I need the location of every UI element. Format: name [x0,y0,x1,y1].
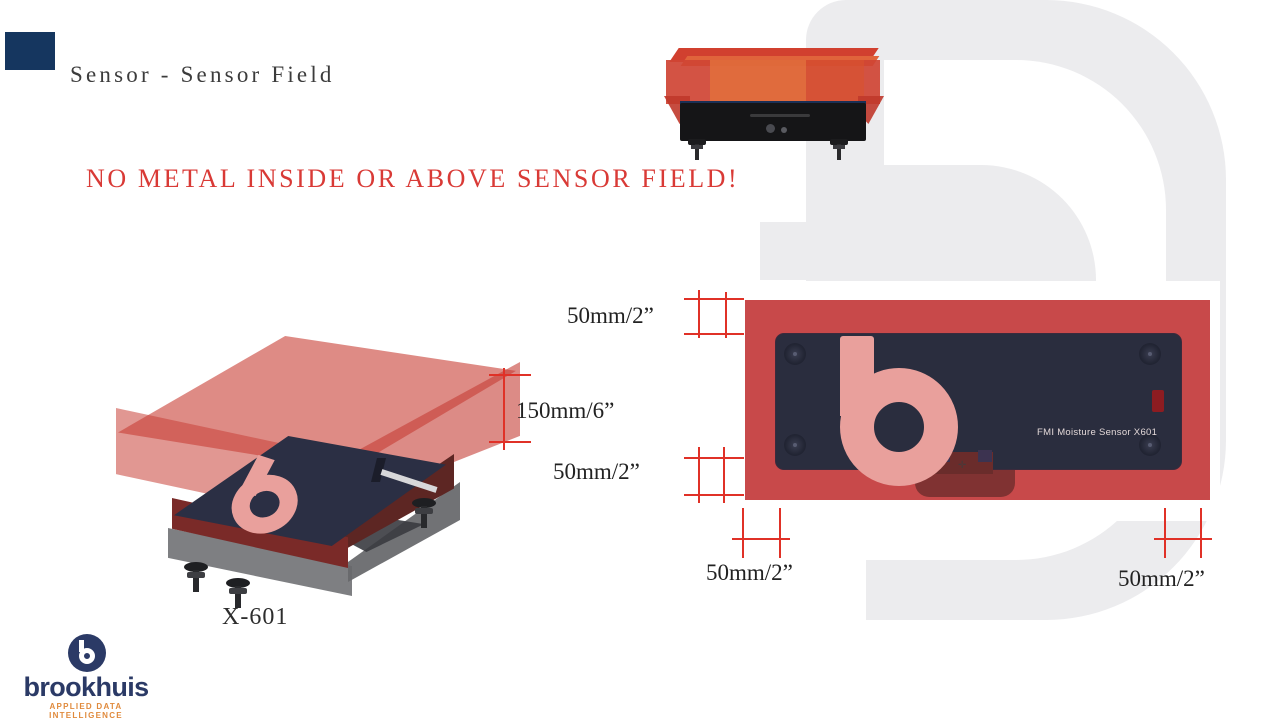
dim-height-lead-upper [489,374,531,376]
iso-foot-front-left [184,562,208,594]
screw-bottom-left-icon [784,434,806,456]
b-bowl [840,368,958,486]
field-box-highlight-a [710,60,806,104]
brookhuis-b-logo-icon-large [808,332,968,472]
sensor-foot-right [830,139,848,161]
logo-tagline: APPLIED DATA INTELLIGENCE [16,702,156,720]
connector-pin-right [978,450,992,462]
dim-top-label: 50mm/2” [567,303,654,329]
foot-nut [229,588,247,594]
sensor-isometric-render [112,332,532,610]
dim-height-label: 150mm/6” [516,398,614,424]
brookhuis-logo: brookhuis APPLIED DATA INTELLIGENCE [16,634,156,708]
field-box-highlight-b [806,60,864,104]
sensor-led-icon [781,127,787,133]
sensor-housing [680,103,866,141]
dim-left-tick-inner [779,508,781,558]
dim-top-lead-upper [684,298,744,300]
sensor-foot-left [688,139,706,161]
page-title: Sensor - Sensor Field [70,62,335,88]
screw-top-left-icon [784,343,806,365]
dim-left-label: 50mm/2” [706,560,793,586]
sensor-side-port [1152,390,1164,412]
dim-right-tick-outer [1200,508,1202,558]
logo-b-bowl [79,648,95,664]
dim-bottom-label: 50mm/2” [553,459,640,485]
dim-bottom-lead-lower [684,494,744,496]
sensor-front-view-render [662,48,886,160]
dim-height-tick [503,368,505,450]
iso-foot-back-right [412,498,436,530]
dim-right-label: 50mm/2” [1118,566,1205,592]
iso-view-caption: X-601 [222,604,288,631]
foot-nut [187,572,205,578]
warning-text: NO METAL INSIDE OR ABOVE SENSOR FIELD! [86,164,739,194]
dim-left-tick-outer [742,508,744,558]
dim-top-lead-lower [684,333,744,335]
sensor-vent-slot [750,114,810,117]
title-accent-box [5,32,55,70]
dim-right-lead [1154,538,1212,540]
watermark-b-left-block [760,222,826,280]
dim-right-tick-inner [1164,508,1166,558]
sensor-knob-icon [766,124,775,133]
screw-top-right-icon [1139,343,1161,365]
dim-bottom-lead-upper [684,457,744,459]
foot-nut [691,145,703,149]
foot-nut [833,145,845,149]
slide-canvas: Sensor - Sensor Field NO METAL INSIDE OR… [0,0,1280,721]
dim-height-lead-lower [489,441,531,443]
sensor-model-label: FMI Moisture Sensor X601 [1037,427,1157,438]
foot-nut [415,508,433,514]
dim-left-lead [732,538,790,540]
logo-wordmark: brookhuis [16,672,156,703]
